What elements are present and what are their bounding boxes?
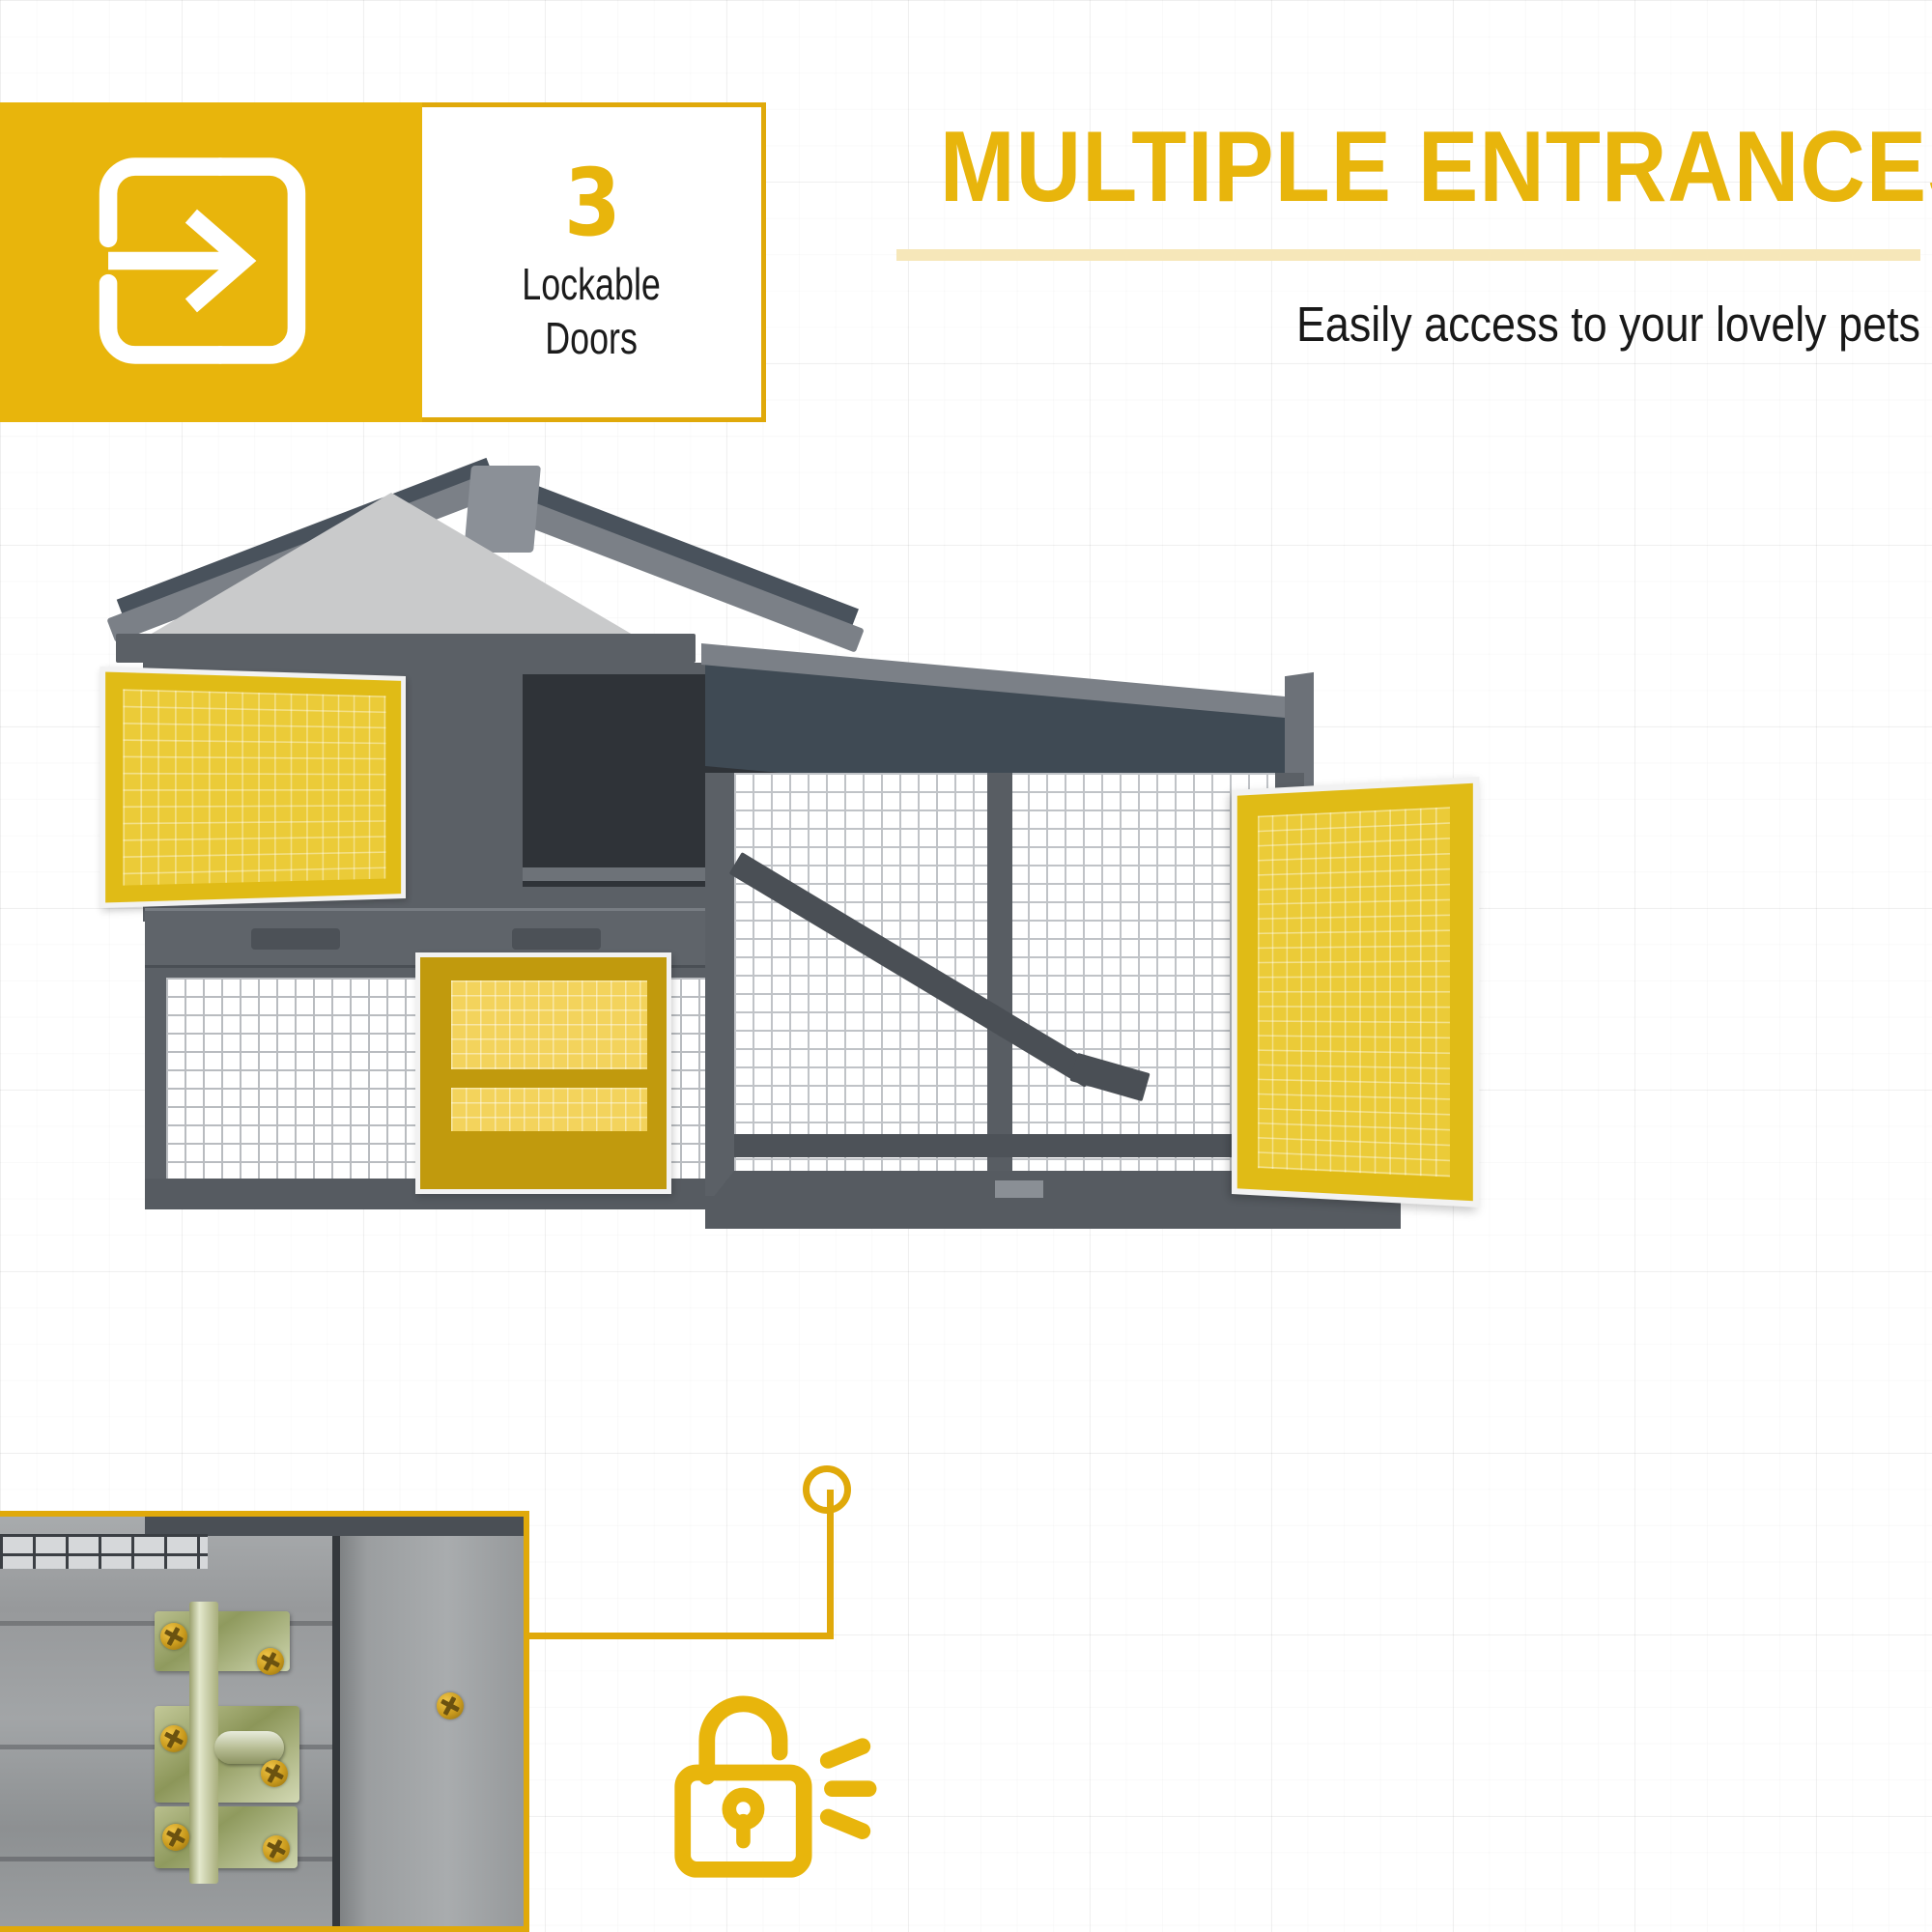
callout-connector-horizontal (526, 1633, 834, 1639)
right-lockable-door[interactable] (1232, 777, 1479, 1207)
screw-icon (263, 1835, 290, 1862)
screw-icon (437, 1692, 464, 1719)
door-wire-mesh-upper-panel (451, 980, 647, 1069)
door-count-number: 3 (564, 159, 620, 247)
page-subtitle: Easily access to your lovely pets (961, 296, 1920, 353)
run-enclosure-frame (705, 773, 1304, 1207)
tray-handle-left[interactable] (251, 928, 340, 950)
door-wire-mesh (123, 689, 385, 885)
screw-icon (162, 1824, 189, 1851)
run-divider-post (987, 773, 1012, 1171)
upper-left-lockable-door[interactable] (99, 667, 406, 908)
feature-icon-tile (0, 102, 422, 422)
lower-center-lockable-door[interactable] (415, 952, 671, 1194)
title-underline-rule (896, 249, 1920, 261)
run-door-latch[interactable] (995, 1180, 1043, 1198)
latch-callout-marker (803, 1465, 851, 1514)
barrel-bolt-knob (214, 1731, 284, 1764)
screw-icon (261, 1760, 288, 1787)
door-count-caption: Lockable Doors (523, 257, 662, 365)
screw-icon (160, 1725, 187, 1752)
gable-end-panel (145, 493, 638, 638)
inset-top-frame-bar (145, 1517, 529, 1536)
tray-handle-right[interactable] (512, 928, 601, 950)
page-title: MULTIPLE ENTRANCES (940, 114, 1920, 220)
caption-line-1: Lockable (523, 259, 662, 309)
headline-block: MULTIPLE ENTRANCES Easily access to your… (831, 114, 1920, 353)
run-bottom-rail (734, 1134, 1275, 1157)
latch-detail-inset-photo (0, 1511, 529, 1932)
inset-wire-mesh (0, 1534, 208, 1569)
product-photo-rabbit-hutch (0, 454, 1932, 1517)
caption-line-2: Doors (546, 313, 639, 363)
open-padlock-icon (667, 1681, 889, 1889)
screw-icon (257, 1648, 284, 1675)
inset-wood-post-right (340, 1517, 529, 1932)
exit-door-arrow-icon (89, 149, 316, 373)
run-base-extension (705, 1196, 1401, 1229)
feature-header-band: 3 Lockable Doors MULTIPLE ENTRANCES Easi… (0, 102, 1932, 423)
screw-icon (160, 1623, 187, 1650)
gable-support-beam (116, 634, 696, 663)
door-wire-mesh-lower-panel (451, 1088, 647, 1131)
lockable-doors-count-box: 3 Lockable Doors (422, 102, 766, 422)
door-wire-mesh (1258, 807, 1450, 1177)
